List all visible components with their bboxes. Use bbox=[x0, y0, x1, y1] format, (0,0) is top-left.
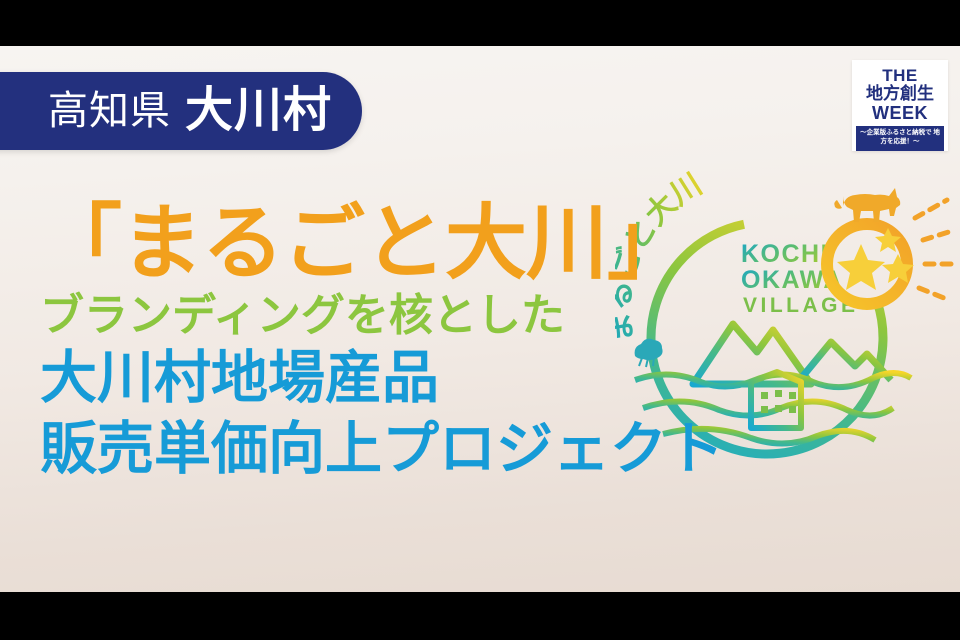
letterbox-bottom bbox=[0, 592, 960, 640]
headline-project-line1: 大川村地場産品 bbox=[40, 346, 724, 411]
event-logo-japanese: 地方創生 bbox=[856, 85, 944, 104]
prefecture-village-badge: 高知県 大川村 bbox=[0, 72, 362, 150]
emblem-name-block: KOCHI OKAWA VILLAGE bbox=[741, 240, 859, 317]
letterbox-top bbox=[0, 0, 960, 46]
headline-primary: 「まるごと大川」 bbox=[40, 201, 724, 288]
headline-project-line2: 販売単価向上プロジェクト bbox=[40, 417, 724, 482]
slide-canvas: 高知県 大川村 「まるごと大川」 ブランディングを核とした 大川村地場産品 販売… bbox=[0, 46, 960, 592]
sun-rays-icon bbox=[915, 200, 955, 300]
cow-icon bbox=[834, 188, 900, 222]
headline-subtitle: ブランディングを核とした bbox=[40, 292, 724, 340]
prefecture-label: 高知県 bbox=[48, 91, 171, 131]
emblem-name-kochi: KOCHI bbox=[741, 240, 829, 268]
event-logo-the: THE bbox=[856, 67, 944, 85]
event-logo-week: WEEK bbox=[856, 104, 944, 123]
building-icon bbox=[751, 372, 801, 428]
event-logo-tagline: 〜企業版ふるさと納税で 地方を応援！〜 bbox=[856, 126, 944, 151]
event-logo: THE 地方創生 WEEK 〜企業版ふるさと納税で 地方を応援！〜 bbox=[852, 60, 948, 151]
village-label: 大川村 bbox=[185, 87, 332, 135]
headline-block: 「まるごと大川」 ブランディングを核とした 大川村地場産品 販売単価向上プロジェ… bbox=[40, 201, 724, 482]
